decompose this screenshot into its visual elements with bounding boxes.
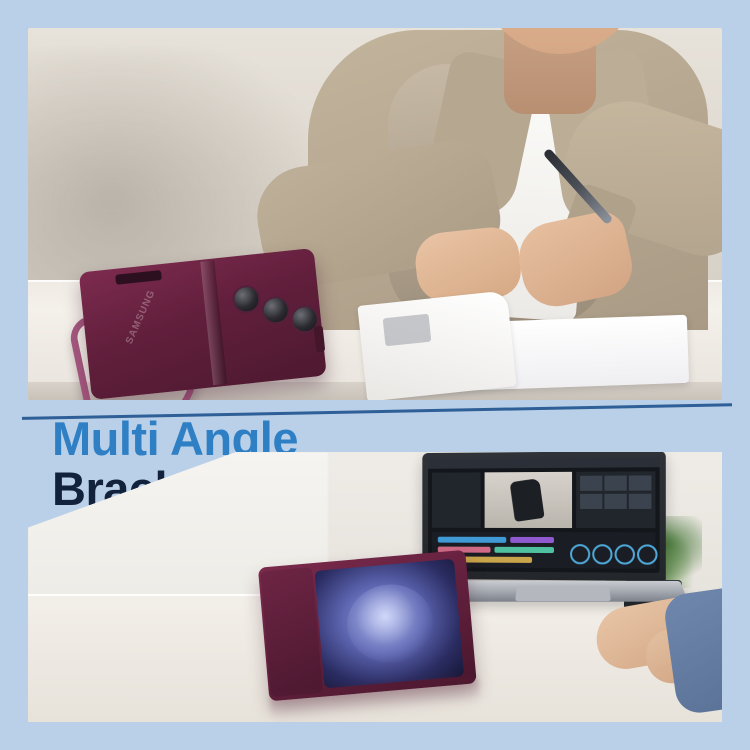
person-left-hand	[413, 225, 524, 305]
media-thumbnail	[604, 476, 626, 491]
timeline-clip	[510, 537, 554, 543]
phone-back-cover: SAMSUNG	[79, 248, 327, 400]
media-thumbnail	[580, 494, 602, 509]
folded-phone-back-half	[260, 567, 323, 697]
bottom-photo-panel	[28, 452, 722, 722]
media-thumbnail	[604, 494, 626, 509]
editor-left-panel	[432, 472, 481, 528]
side-button	[314, 325, 326, 352]
color-wheel	[592, 544, 612, 564]
camera-lens-1	[231, 284, 262, 315]
timeline-clip	[438, 537, 506, 543]
color-wheel	[615, 544, 635, 564]
media-thumbnail	[629, 475, 652, 490]
media-thumbnail	[629, 494, 652, 509]
editor-menu-bar	[428, 457, 659, 469]
color-wheel	[637, 544, 658, 564]
color-wheel	[570, 544, 590, 564]
phone-with-kickstand: SAMSUNG	[67, 247, 339, 400]
top-photo-panel: SAMSUNG	[28, 28, 722, 400]
timeline-clip	[494, 547, 554, 553]
product-poster: SAMSUNG Multi Angle Bracket Highly pract…	[0, 0, 750, 750]
camera-lens-2	[260, 295, 291, 326]
folded-phone	[258, 549, 490, 718]
notebook-page-mark	[383, 314, 432, 347]
media-thumbnail	[580, 476, 602, 491]
phone-hinge	[200, 260, 227, 385]
brand-emboss-text: SAMSUNG	[124, 274, 172, 350]
laptop-trackpad	[515, 587, 611, 601]
editor-media-bin	[576, 471, 655, 528]
preview-subject	[510, 478, 545, 522]
notebook-page	[357, 290, 516, 400]
